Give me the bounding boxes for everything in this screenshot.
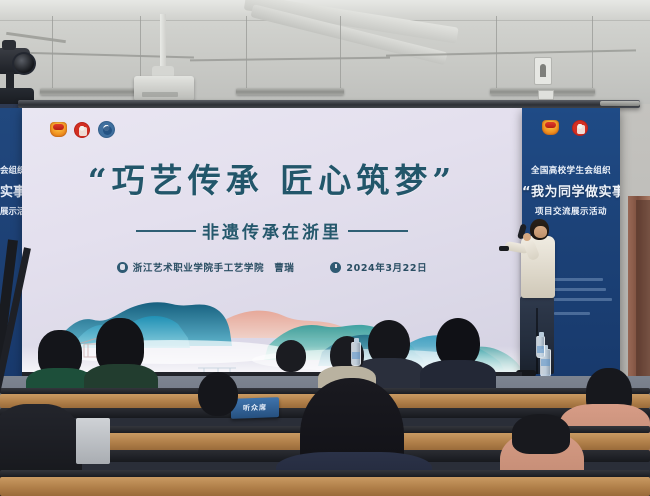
slide-presenter-org-item: 浙江艺术职业学院手工艺学院 曹瑞 — [117, 260, 295, 274]
banner-left-line3: 展示活动 — [0, 205, 22, 217]
door-opening — [636, 200, 650, 392]
subtitle-rule-left — [136, 230, 196, 232]
audience-head — [198, 372, 238, 416]
slide-subtitle: 非遗传承在浙里 — [202, 218, 342, 243]
camera-viewfinder — [2, 40, 16, 50]
banner-line1: 全国高校学生会组织 — [522, 164, 620, 176]
slide-date: 2024年3月22日 — [346, 260, 427, 274]
ceiling-light-icon — [40, 88, 138, 95]
audience-placard[interactable]: 听众席 — [231, 397, 279, 419]
slide-date-item: 2024年3月22日 — [330, 260, 427, 274]
audience-head — [512, 414, 570, 454]
screenshot-root: 会组织 实事” 展示活动 — [0, 0, 650, 496]
wall-plate-icon — [534, 57, 552, 85]
desk-surface — [0, 477, 650, 496]
projector-icon — [134, 76, 194, 101]
slide-subtitle-row: 非遗传承在浙里 — [22, 218, 522, 243]
projector-label — [142, 92, 178, 97]
banner-emblem-gold-shield-icon — [542, 120, 559, 135]
audience-head — [276, 340, 306, 372]
light-hanger — [52, 16, 53, 90]
banner-text-block: 全国高校学生会组织 “我为同学做实事” 项目交流展示活动 — [522, 164, 620, 217]
slide-title: “巧艺传承 匠心筑梦” — [22, 154, 522, 202]
banner-left-line1: 会组织 — [0, 164, 22, 176]
banner-left-text: 会组织 实事” 展示活动 — [0, 164, 24, 217]
ceiling-light-icon — [236, 88, 344, 95]
banner-line3: 项目交流展示活动 — [522, 205, 620, 217]
screen-roller-end — [600, 101, 640, 106]
banner-fineprint-line — [554, 312, 590, 315]
camera-lens-icon — [12, 52, 36, 75]
presenter-hand — [523, 233, 531, 241]
banner-emblem-red-circle-icon — [572, 120, 588, 136]
water-bottle-icon — [536, 336, 545, 358]
projector-mount-pole — [160, 14, 166, 70]
projection-screen-roller — [18, 100, 640, 108]
slide-footer: 浙江艺术职业学院手工艺学院 曹瑞 2024年3月22日 — [22, 260, 522, 274]
paper-bag-icon — [76, 418, 110, 464]
slide-presenter-org: 浙江艺术职业学院手工艺学院 曹瑞 — [133, 260, 295, 274]
banner-line2: “我为同学做实事” — [522, 181, 620, 200]
person-icon — [117, 262, 128, 273]
clock-icon — [330, 262, 341, 273]
light-hanger — [246, 16, 247, 88]
presenter-clicker-icon — [499, 246, 509, 251]
light-hanger — [340, 16, 341, 88]
presenter-face — [534, 226, 547, 238]
water-bottle-icon — [351, 342, 361, 366]
banner-left-line2: 实事” — [0, 181, 22, 200]
placard-label: 听众席 — [243, 403, 267, 414]
light-hanger — [592, 16, 593, 90]
light-hanger — [496, 16, 497, 90]
emblem-blue-circle-icon — [98, 121, 115, 138]
wall-socket-icon — [538, 90, 554, 100]
emblem-red-circle-icon — [74, 122, 90, 138]
emblem-gold-shield-icon — [50, 122, 67, 137]
desk-rail — [0, 470, 650, 477]
subtitle-rule-right — [348, 230, 408, 232]
